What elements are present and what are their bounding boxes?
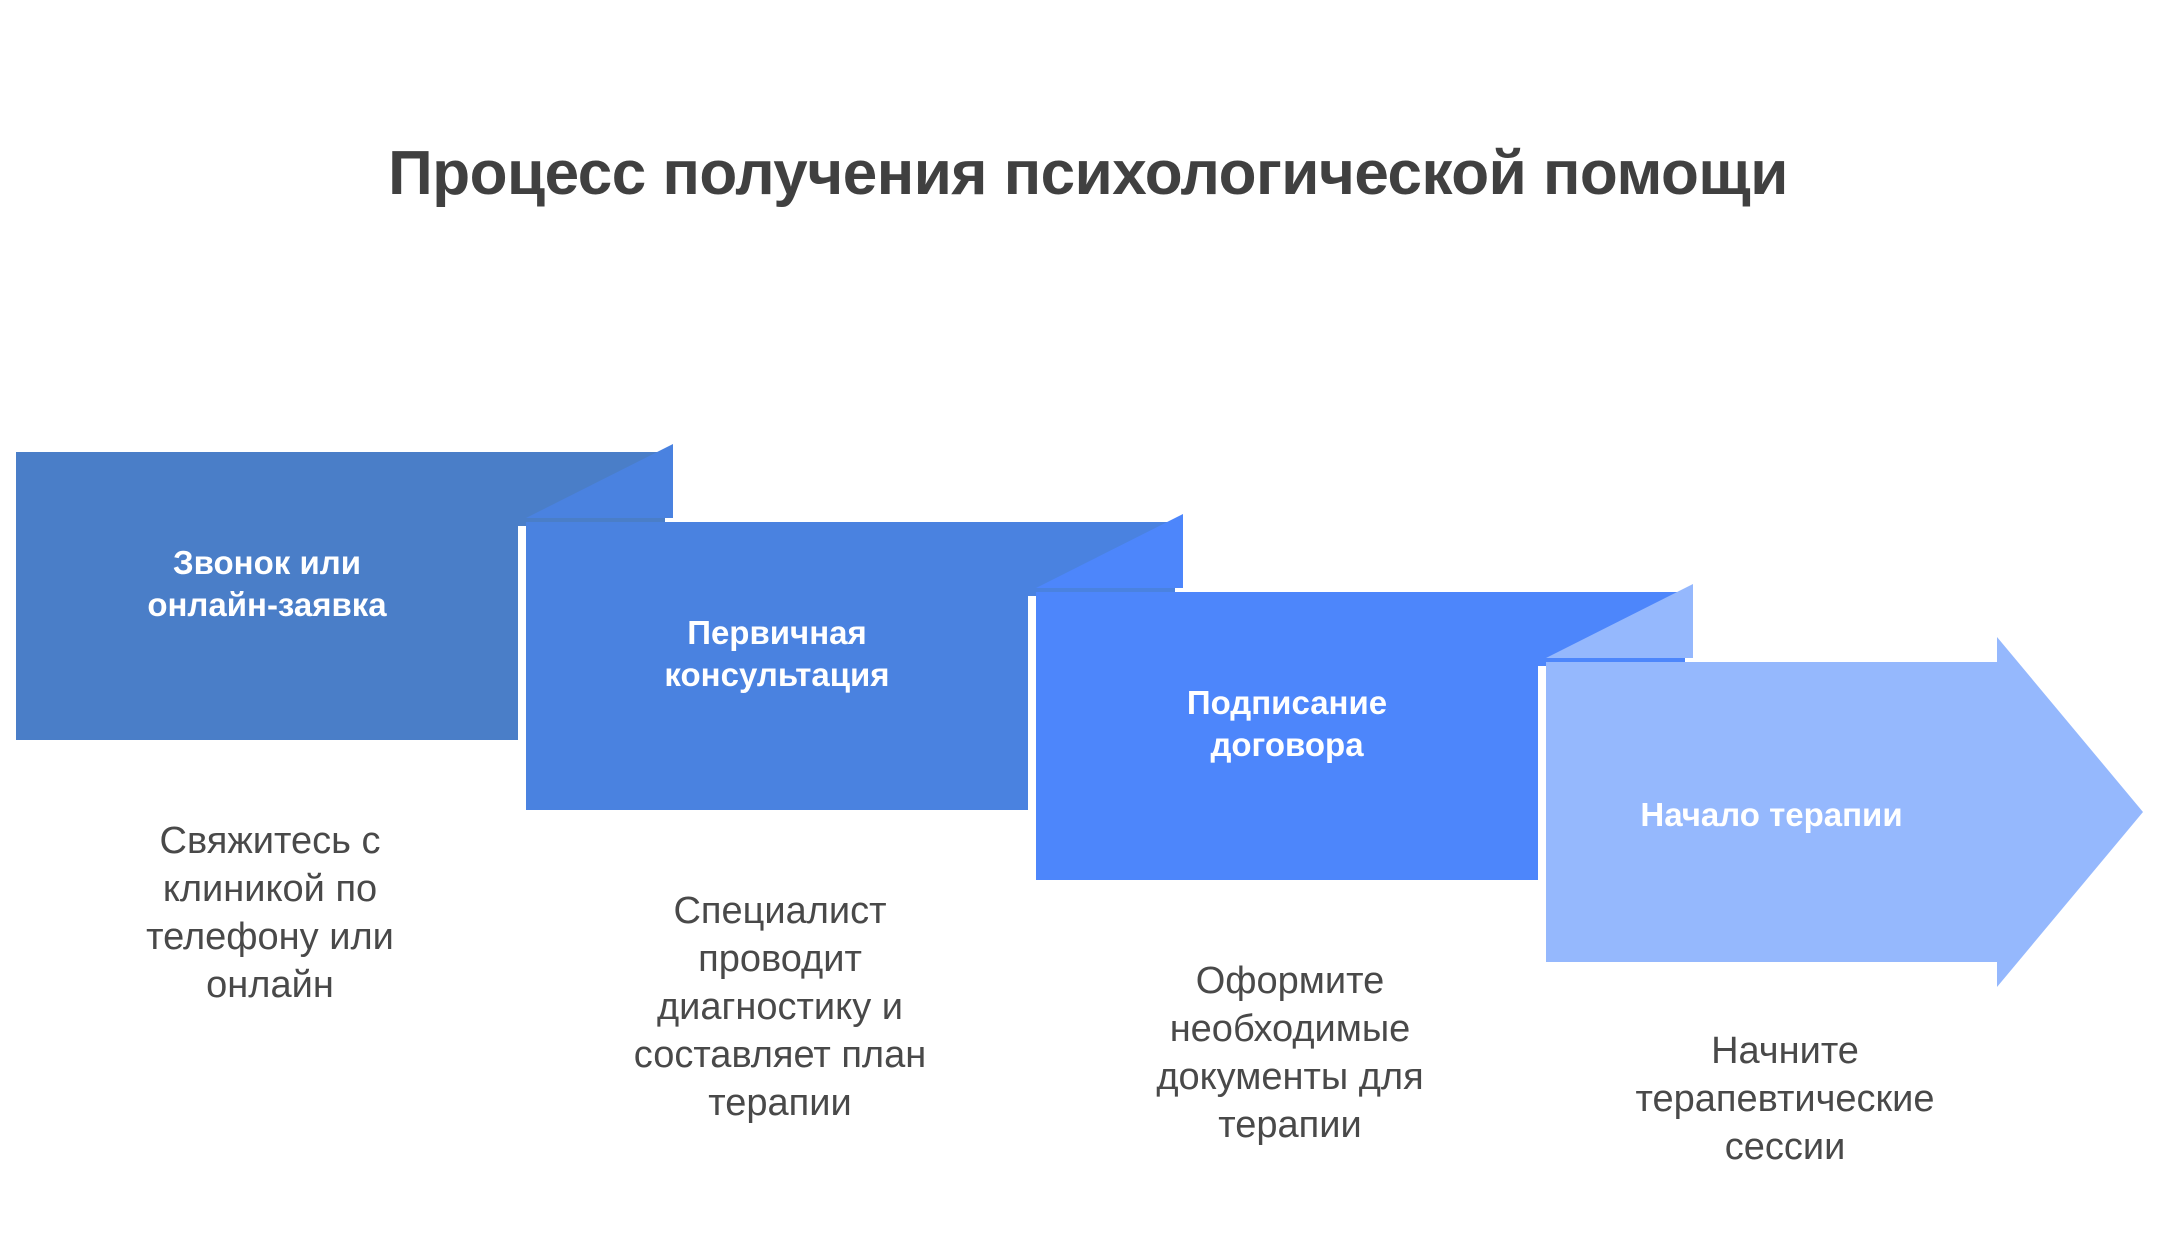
step-4-arrow-body[interactable] — [1546, 637, 2143, 987]
step-caption-4: Начните терапевтические сессии — [1545, 1028, 2025, 1172]
process-step-shape-4[interactable] — [1546, 584, 2143, 987]
slide-canvas: Процесс получения психологической помощи — [0, 0, 2176, 1256]
step-caption-2: Специалист проводит диагностику и состав… — [540, 888, 1020, 1127]
step-caption-1: Свяжитесь с клиникой по телефону или онл… — [30, 818, 510, 1010]
step-caption-3: Оформите необходимые документы для терап… — [1050, 958, 1530, 1150]
